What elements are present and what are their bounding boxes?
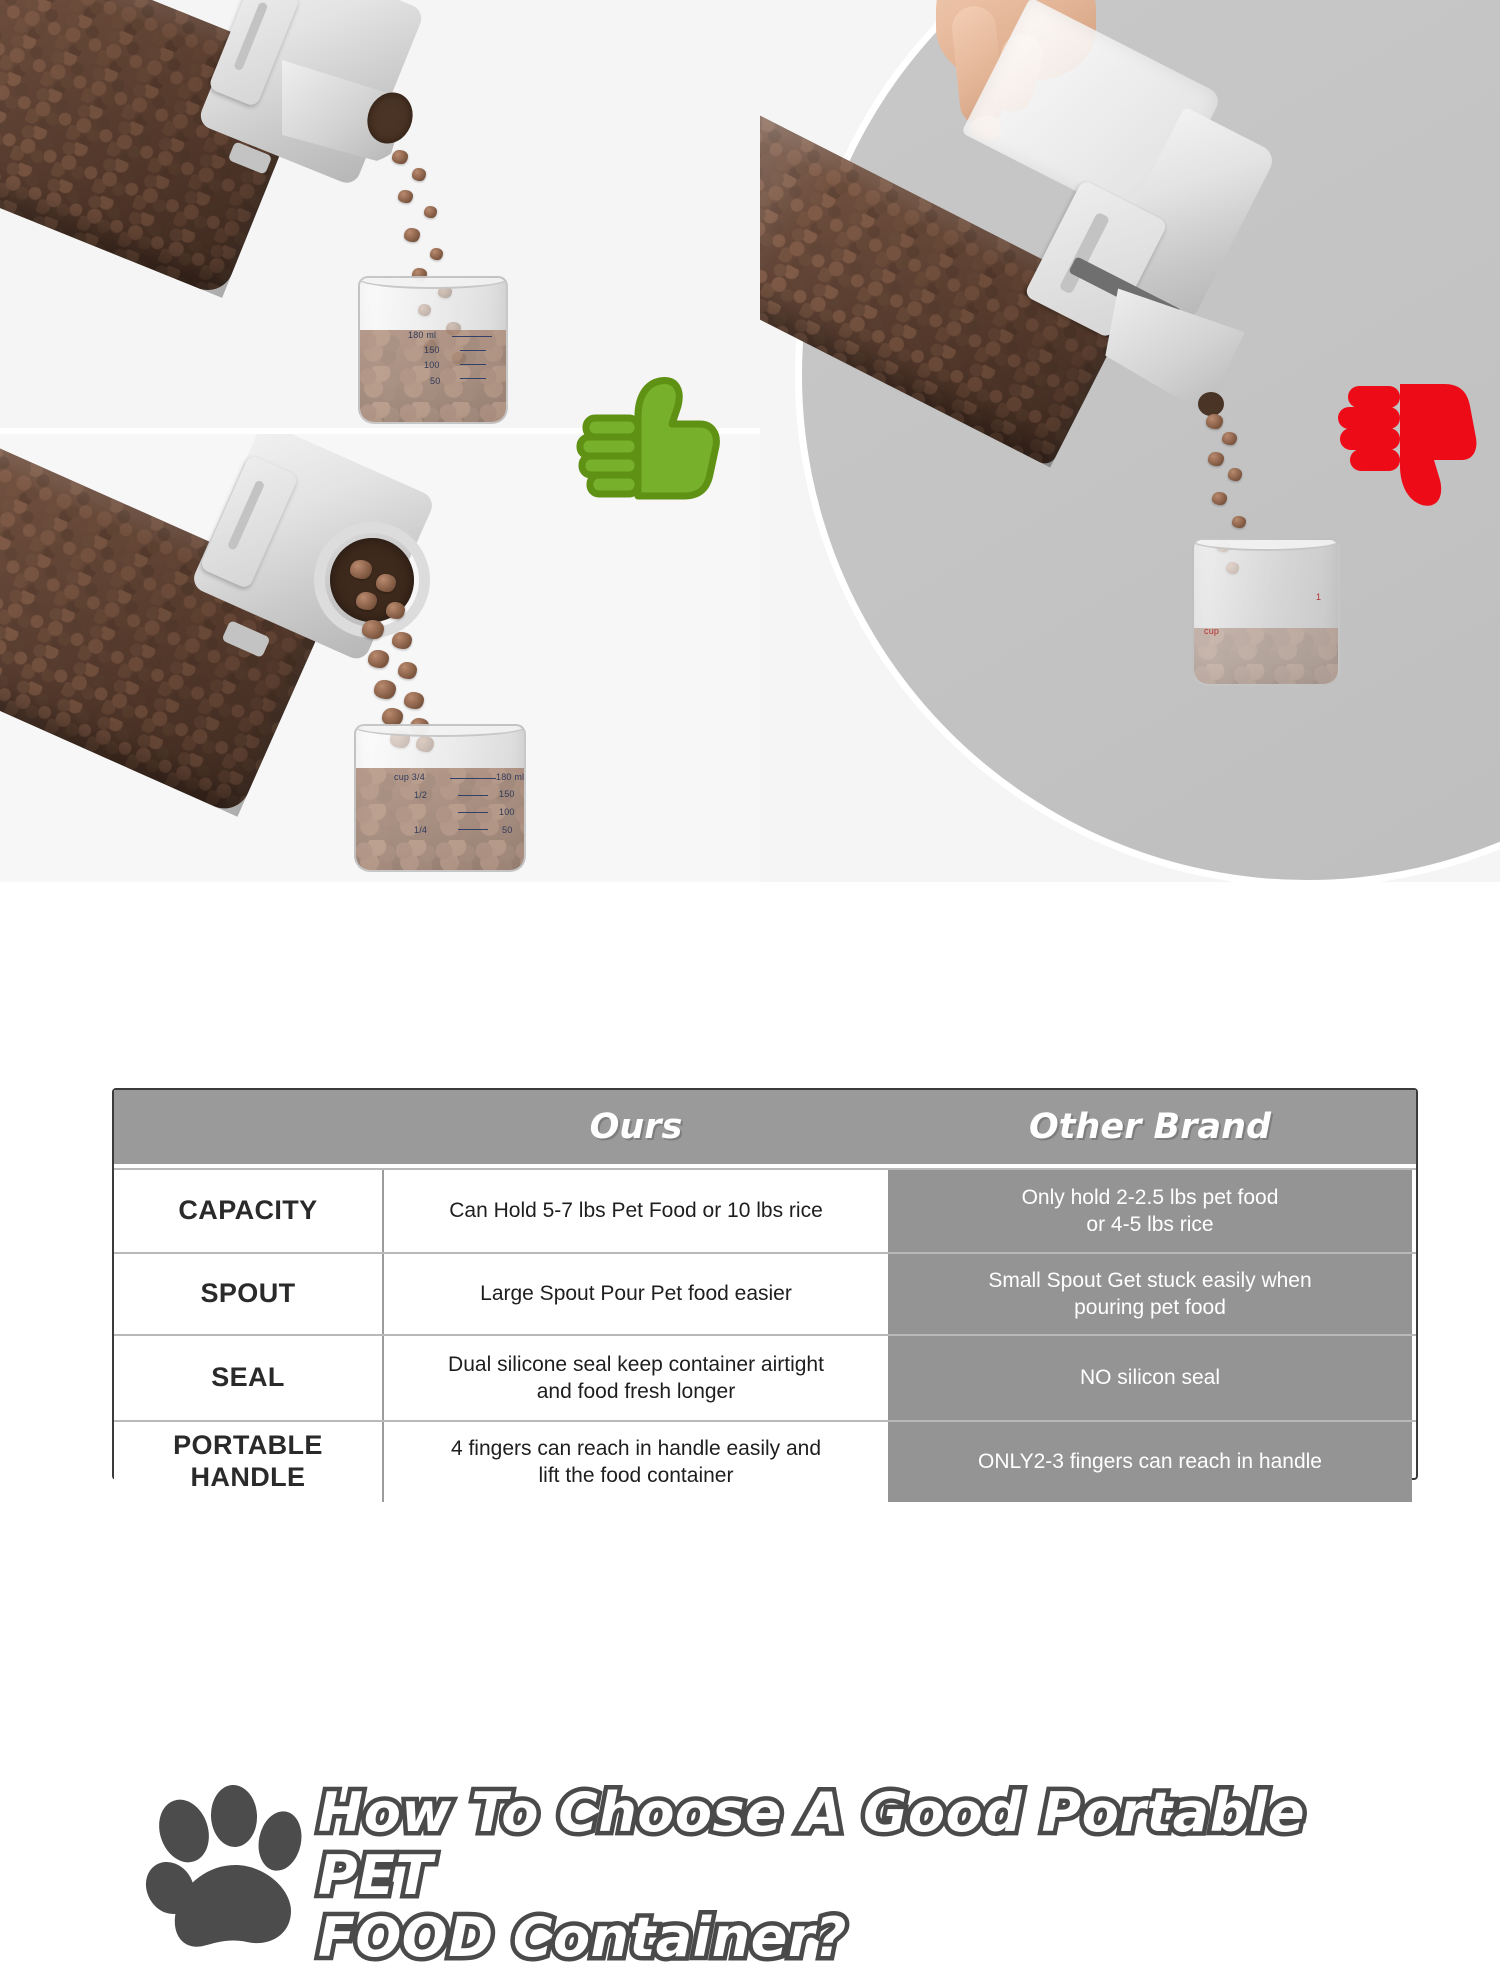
table-row: SEAL Dual silicone seal keep container a…	[114, 1334, 1416, 1420]
cup-scale-marking: cup	[1204, 626, 1219, 636]
photo-panel-good-top: 180 ml 150 100 50	[0, 0, 760, 428]
row-label-portable-handle: PORTABLE HANDLE	[114, 1422, 384, 1502]
cup-scale-150: 150	[499, 789, 515, 799]
cup-scale-180ml: 180 ml	[408, 330, 436, 340]
cup-scale-180ml: 180 ml	[496, 772, 524, 782]
table-header-other-brand: Other Brand	[888, 1090, 1412, 1164]
table-header-row: Ours Other Brand	[114, 1090, 1416, 1168]
row-other-portable-handle: ONLY2-3 fingers can reach in handle	[888, 1422, 1412, 1502]
cup-scale-100: 100	[499, 807, 515, 817]
page-title: How To Choose A Good Portable PET FOOD C…	[318, 1782, 1438, 1970]
table-row: PORTABLE HANDLE 4 fingers can reach in h…	[114, 1420, 1416, 1502]
cup-scale-50: 50	[502, 825, 512, 835]
title-line-2: FOOD Container?	[318, 1907, 1438, 1970]
row-other-capacity: Only hold 2-2.5 lbs pet food or 4-5 lbs …	[888, 1170, 1412, 1252]
table-row: CAPACITY Can Hold 5-7 lbs Pet Food or 10…	[114, 1168, 1416, 1252]
row-other-spout: Small Spout Get stuck easily when pourin…	[888, 1254, 1412, 1334]
thumbs-down-icon	[1328, 372, 1478, 512]
row-ours-capacity: Can Hold 5-7 lbs Pet Food or 10 lbs rice	[384, 1170, 888, 1252]
row-other-seal: NO silicon seal	[888, 1336, 1412, 1420]
row-ours-portable-handle: 4 fingers can reach in handle easily and…	[384, 1422, 888, 1502]
product-photo-collage: 180 ml 150 100 50	[0, 0, 1500, 882]
measuring-cup: cup 1	[1192, 538, 1340, 686]
thumbs-up-icon	[572, 374, 722, 502]
cup-scale-50: 50	[430, 376, 440, 386]
table-header-ours: Ours	[384, 1090, 888, 1164]
cup-scale-150: 150	[424, 345, 440, 355]
comparison-table: Ours Other Brand CAPACITY Can Hold 5-7 l…	[112, 1088, 1418, 1480]
cup-scale-marking-2: 1	[1316, 592, 1321, 602]
cup-scale-100: 100	[424, 360, 440, 370]
measuring-cup: cup 3/4 1/2 1/4 180 ml 150 100 50	[354, 724, 526, 872]
headline-section: How To Choose A Good Portable PET FOOD C…	[0, 882, 1500, 1072]
cup-scale-half: 1/2	[414, 790, 427, 800]
cup-scale-quarter: 1/4	[414, 825, 427, 835]
measuring-cup: 180 ml 150 100 50	[358, 276, 508, 424]
row-label-seal: SEAL	[114, 1336, 384, 1420]
table-header-blank	[114, 1090, 384, 1164]
cup-scale-cup34: cup 3/4	[394, 772, 425, 782]
paw-print-icon	[143, 1785, 323, 1950]
row-label-capacity: CAPACITY	[114, 1170, 384, 1252]
row-ours-spout: Large Spout Pour Pet food easier	[384, 1254, 888, 1334]
small-spout-opening	[1198, 392, 1224, 416]
table-row: SPOUT Large Spout Pour Pet food easier S…	[114, 1252, 1416, 1334]
photo-panel-bad: cup 1	[760, 0, 1500, 882]
title-line-1: How To Choose A Good Portable PET	[318, 1782, 1438, 1907]
row-ours-seal: Dual silicone seal keep container airtig…	[384, 1336, 888, 1420]
row-label-spout: SPOUT	[114, 1254, 384, 1334]
